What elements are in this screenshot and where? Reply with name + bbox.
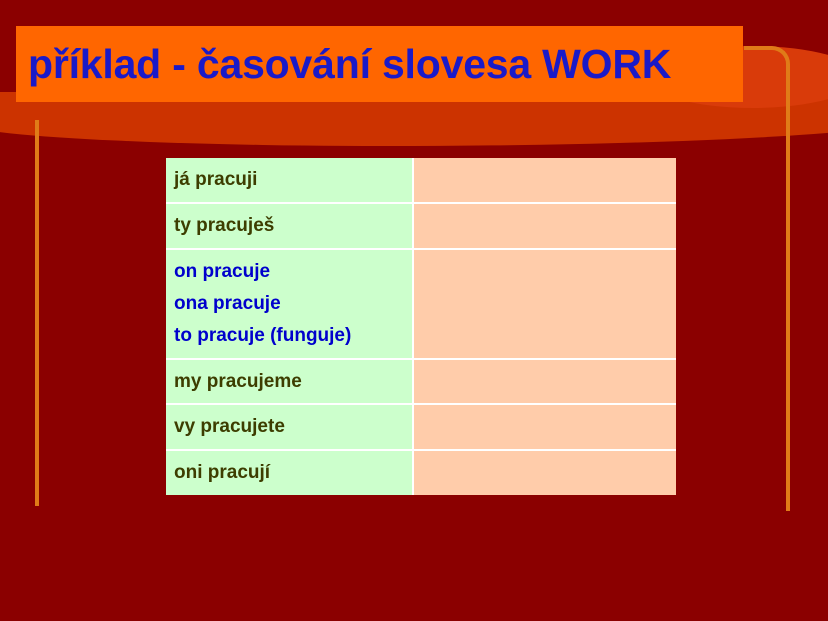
person-line: oni pracují	[174, 457, 412, 489]
person-cell: oni pracují	[166, 451, 414, 495]
person-line: my pracujeme	[174, 366, 412, 398]
answer-cell[interactable]	[414, 451, 676, 495]
conjugation-table-body: já pracujity pracuješon pracujeona pracu…	[166, 158, 676, 495]
person-cell: on pracujeona pracujeto pracuje (funguje…	[166, 250, 414, 360]
conjugation-table: já pracujity pracuješon pracujeona pracu…	[166, 158, 676, 495]
person-cell: vy pracujete	[166, 405, 414, 451]
person-line: on pracuje	[174, 256, 412, 288]
person-line: vy pracujete	[174, 411, 412, 443]
table-row: on pracujeona pracujeto pracuje (funguje…	[166, 250, 676, 360]
table-row: oni pracují	[166, 451, 676, 495]
answer-cell[interactable]	[414, 405, 676, 451]
table-row: vy pracujete	[166, 405, 676, 451]
answer-cell[interactable]	[414, 158, 676, 204]
answer-cell[interactable]	[414, 250, 676, 360]
person-line: ty pracuješ	[174, 210, 412, 242]
person-line: ona pracuje	[174, 288, 412, 320]
page-title: příklad - časování slovesa WORK	[28, 41, 671, 88]
presentation-slide: příklad - časování slovesa WORK já pracu…	[0, 0, 828, 621]
person-line: já pracuji	[174, 164, 412, 196]
left-accent-rule	[35, 120, 39, 506]
person-cell: já pracuji	[166, 158, 414, 204]
table-row: my pracujeme	[166, 360, 676, 406]
answer-cell[interactable]	[414, 360, 676, 406]
person-cell: ty pracuješ	[166, 204, 414, 250]
title-box: příklad - časování slovesa WORK	[16, 26, 743, 102]
person-line: to pracuje (funguje)	[174, 320, 412, 352]
right-accent-rule	[744, 46, 790, 511]
answer-cell[interactable]	[414, 204, 676, 250]
table-row: ty pracuješ	[166, 204, 676, 250]
table-row: já pracuji	[166, 158, 676, 204]
person-cell: my pracujeme	[166, 360, 414, 406]
